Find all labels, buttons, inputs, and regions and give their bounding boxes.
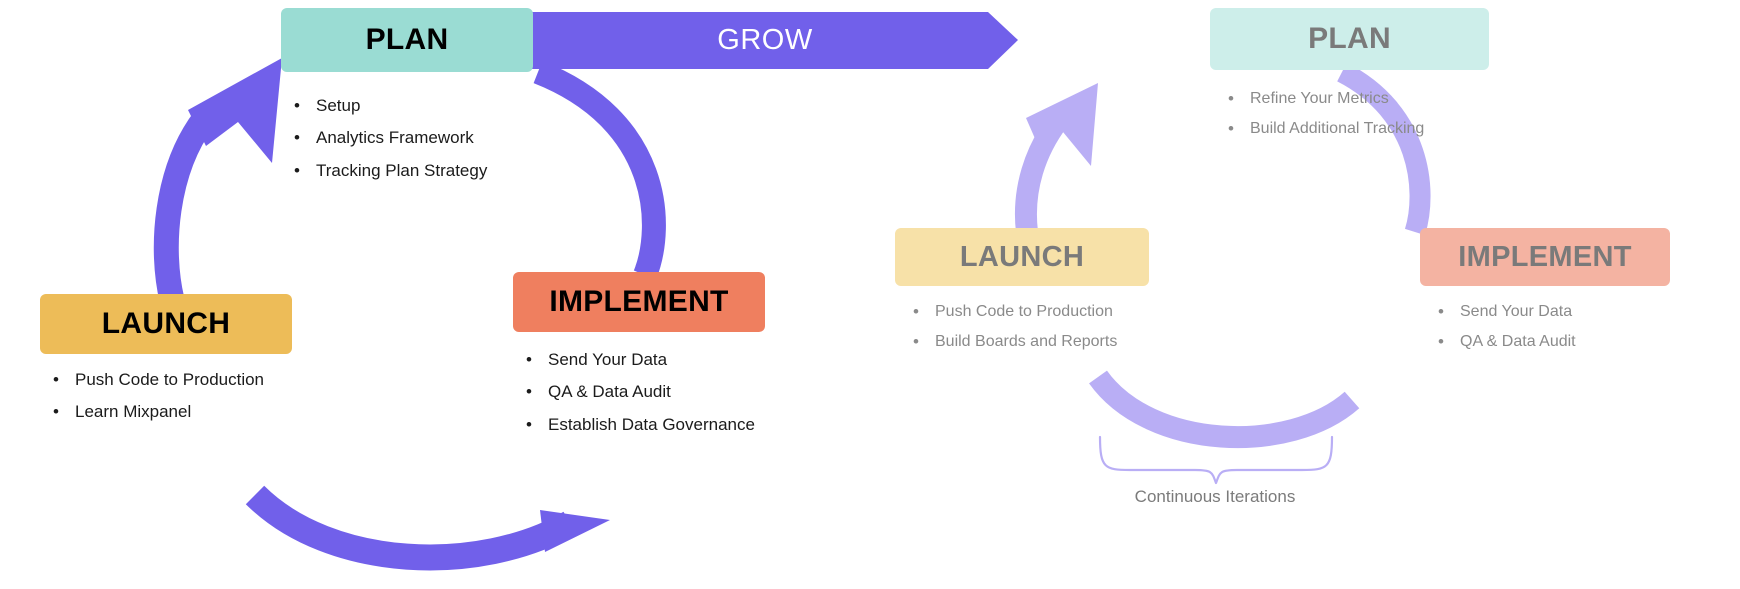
bullet-icon: • — [1438, 302, 1460, 322]
bullet-icon: • — [53, 402, 75, 422]
bullet-icon: • — [913, 302, 935, 322]
list-item-label: QA & Data Audit — [548, 382, 671, 402]
stage-launch-repeat-title: LAUNCH — [960, 241, 1084, 274]
bullet-icon: • — [913, 332, 935, 352]
grow-banner-label: GROW — [530, 12, 1000, 69]
bullet-icon: • — [294, 161, 316, 181]
stage-plan-repeat-list: • Refine Your Metrics • Build Additional… — [1210, 89, 1489, 140]
stage-plan-active[interactable]: PLAN • Setup • Analytics Framework • Tra… — [281, 8, 533, 193]
stage-implement-repeat-header: IMPLEMENT — [1420, 228, 1670, 286]
stage-plan-repeat[interactable]: PLAN • Refine Your Metrics • Build Addit… — [1210, 8, 1489, 150]
stage-plan-repeat-header: PLAN — [1210, 8, 1489, 70]
list-item-label: Push Code to Production — [935, 302, 1113, 321]
stage-launch-active-title: LAUNCH — [102, 307, 230, 341]
list-item: • QA & Data Audit — [526, 382, 765, 402]
stage-plan-active-list: • Setup • Analytics Framework • Tracking… — [281, 96, 533, 181]
arrow-plan-to-implement — [538, 72, 654, 275]
stage-launch-repeat-list: • Push Code to Production • Build Boards… — [895, 302, 1149, 353]
list-item: • Push Code to Production — [53, 370, 292, 390]
list-item: • Send Your Data — [526, 350, 765, 370]
stage-launch-active-header: LAUNCH — [40, 294, 292, 354]
continuous-iterations-label: Continuous Iterations — [1080, 487, 1350, 507]
list-item: • Build Additional Tracking — [1228, 119, 1489, 139]
list-item: • Learn Mixpanel — [53, 402, 292, 422]
list-item-label: Build Boards and Reports — [935, 332, 1117, 351]
stage-implement-active-title: IMPLEMENT — [549, 285, 728, 319]
bullet-icon: • — [526, 382, 548, 402]
bullet-icon: • — [1228, 119, 1250, 139]
bullet-icon: • — [526, 415, 548, 435]
bullet-icon: • — [294, 128, 316, 148]
arrow-launch-to-plan — [166, 58, 282, 300]
list-item-label: Push Code to Production — [75, 370, 264, 390]
arrow-implement-to-launch — [255, 495, 610, 557]
list-item: • Refine Your Metrics — [1228, 89, 1489, 109]
list-item: • Establish Data Governance — [526, 415, 765, 435]
list-item-label: Send Your Data — [1460, 302, 1572, 321]
bullet-icon: • — [53, 370, 75, 390]
bullet-icon: • — [1228, 89, 1250, 109]
stage-launch-active[interactable]: LAUNCH • Push Code to Production • Learn… — [40, 294, 292, 435]
lifecycle-diagram: GROW PLAN • Setup • Analytics Framework … — [0, 0, 1740, 589]
stage-plan-repeat-title: PLAN — [1308, 22, 1391, 56]
bullet-icon: • — [294, 96, 316, 116]
list-item-label: Send Your Data — [548, 350, 667, 370]
grow-text: GROW — [717, 24, 812, 57]
list-item-label: Build Additional Tracking — [1250, 119, 1424, 138]
list-item-label: Refine Your Metrics — [1250, 89, 1389, 108]
list-item-label: Tracking Plan Strategy — [316, 161, 487, 181]
stage-plan-active-title: PLAN — [366, 23, 449, 57]
stage-launch-repeat-header: LAUNCH — [895, 228, 1149, 286]
list-item: • Build Boards and Reports — [913, 332, 1149, 352]
stage-implement-repeat-list: • Send Your Data • QA & Data Audit — [1420, 302, 1670, 353]
stage-launch-repeat[interactable]: LAUNCH • Push Code to Production • Build… — [895, 228, 1149, 363]
list-item: • Setup — [294, 96, 533, 116]
list-item-label: Establish Data Governance — [548, 415, 755, 435]
stage-launch-active-list: • Push Code to Production • Learn Mixpan… — [40, 370, 292, 423]
list-item-label: Learn Mixpanel — [75, 402, 191, 422]
bullet-icon: • — [1438, 332, 1460, 352]
stage-plan-active-header: PLAN — [281, 8, 533, 72]
stage-implement-active-header: IMPLEMENT — [513, 272, 765, 332]
arrow-faded-launch-to-plan — [1026, 83, 1098, 232]
list-item: • Send Your Data — [1438, 302, 1670, 322]
list-item-label: Setup — [316, 96, 360, 116]
stage-implement-active[interactable]: IMPLEMENT • Send Your Data • QA & Data A… — [513, 272, 765, 447]
stage-implement-repeat[interactable]: IMPLEMENT • Send Your Data • QA & Data A… — [1420, 228, 1670, 363]
list-item: • Tracking Plan Strategy — [294, 161, 533, 181]
list-item: • Push Code to Production — [913, 302, 1149, 322]
stage-implement-repeat-title: IMPLEMENT — [1458, 241, 1631, 274]
list-item: • QA & Data Audit — [1438, 332, 1670, 352]
list-item: • Analytics Framework — [294, 128, 533, 148]
continuous-iterations-brace — [1100, 437, 1332, 483]
arrow-faded-implement-to-launch — [1098, 377, 1352, 437]
list-item-label: Analytics Framework — [316, 128, 474, 148]
bullet-icon: • — [526, 350, 548, 370]
list-item-label: QA & Data Audit — [1460, 332, 1576, 351]
stage-implement-active-list: • Send Your Data • QA & Data Audit • Est… — [513, 350, 765, 435]
